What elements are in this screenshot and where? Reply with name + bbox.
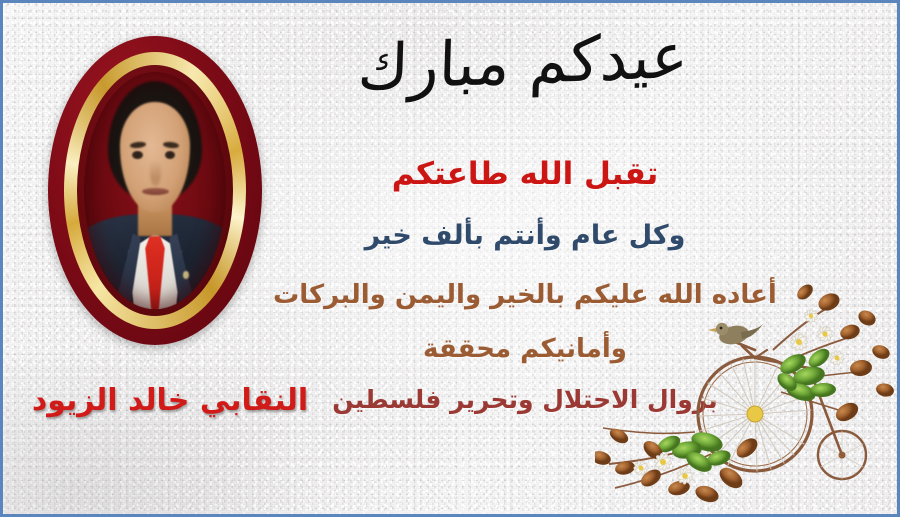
eid-greeting-card: عيدكم مبارك تقبل الله طاعتكم وكل عام وأن… <box>0 0 900 517</box>
signature-name: النقابي خالد الزيود <box>25 383 315 418</box>
message-line-5: بزوال الاحتلال وتحرير فلسطين <box>265 375 785 425</box>
message-line-2: وكل عام وأنتم بألف خير <box>265 205 785 267</box>
message-line-1: تقبل الله طاعتكم <box>265 143 785 205</box>
portrait-frame <box>48 36 262 345</box>
greeting-message: تقبل الله طاعتكم وكل عام وأنتم بألف خير … <box>265 143 785 425</box>
message-line-3: أعاده الله عليكم بالخير واليمن والبركات <box>265 267 785 323</box>
page-title: عيدكم مبارك <box>302 22 744 101</box>
avatar <box>84 72 225 310</box>
photo-vignette <box>84 72 225 310</box>
message-line-4: وأمانيكم محققة <box>265 323 785 375</box>
